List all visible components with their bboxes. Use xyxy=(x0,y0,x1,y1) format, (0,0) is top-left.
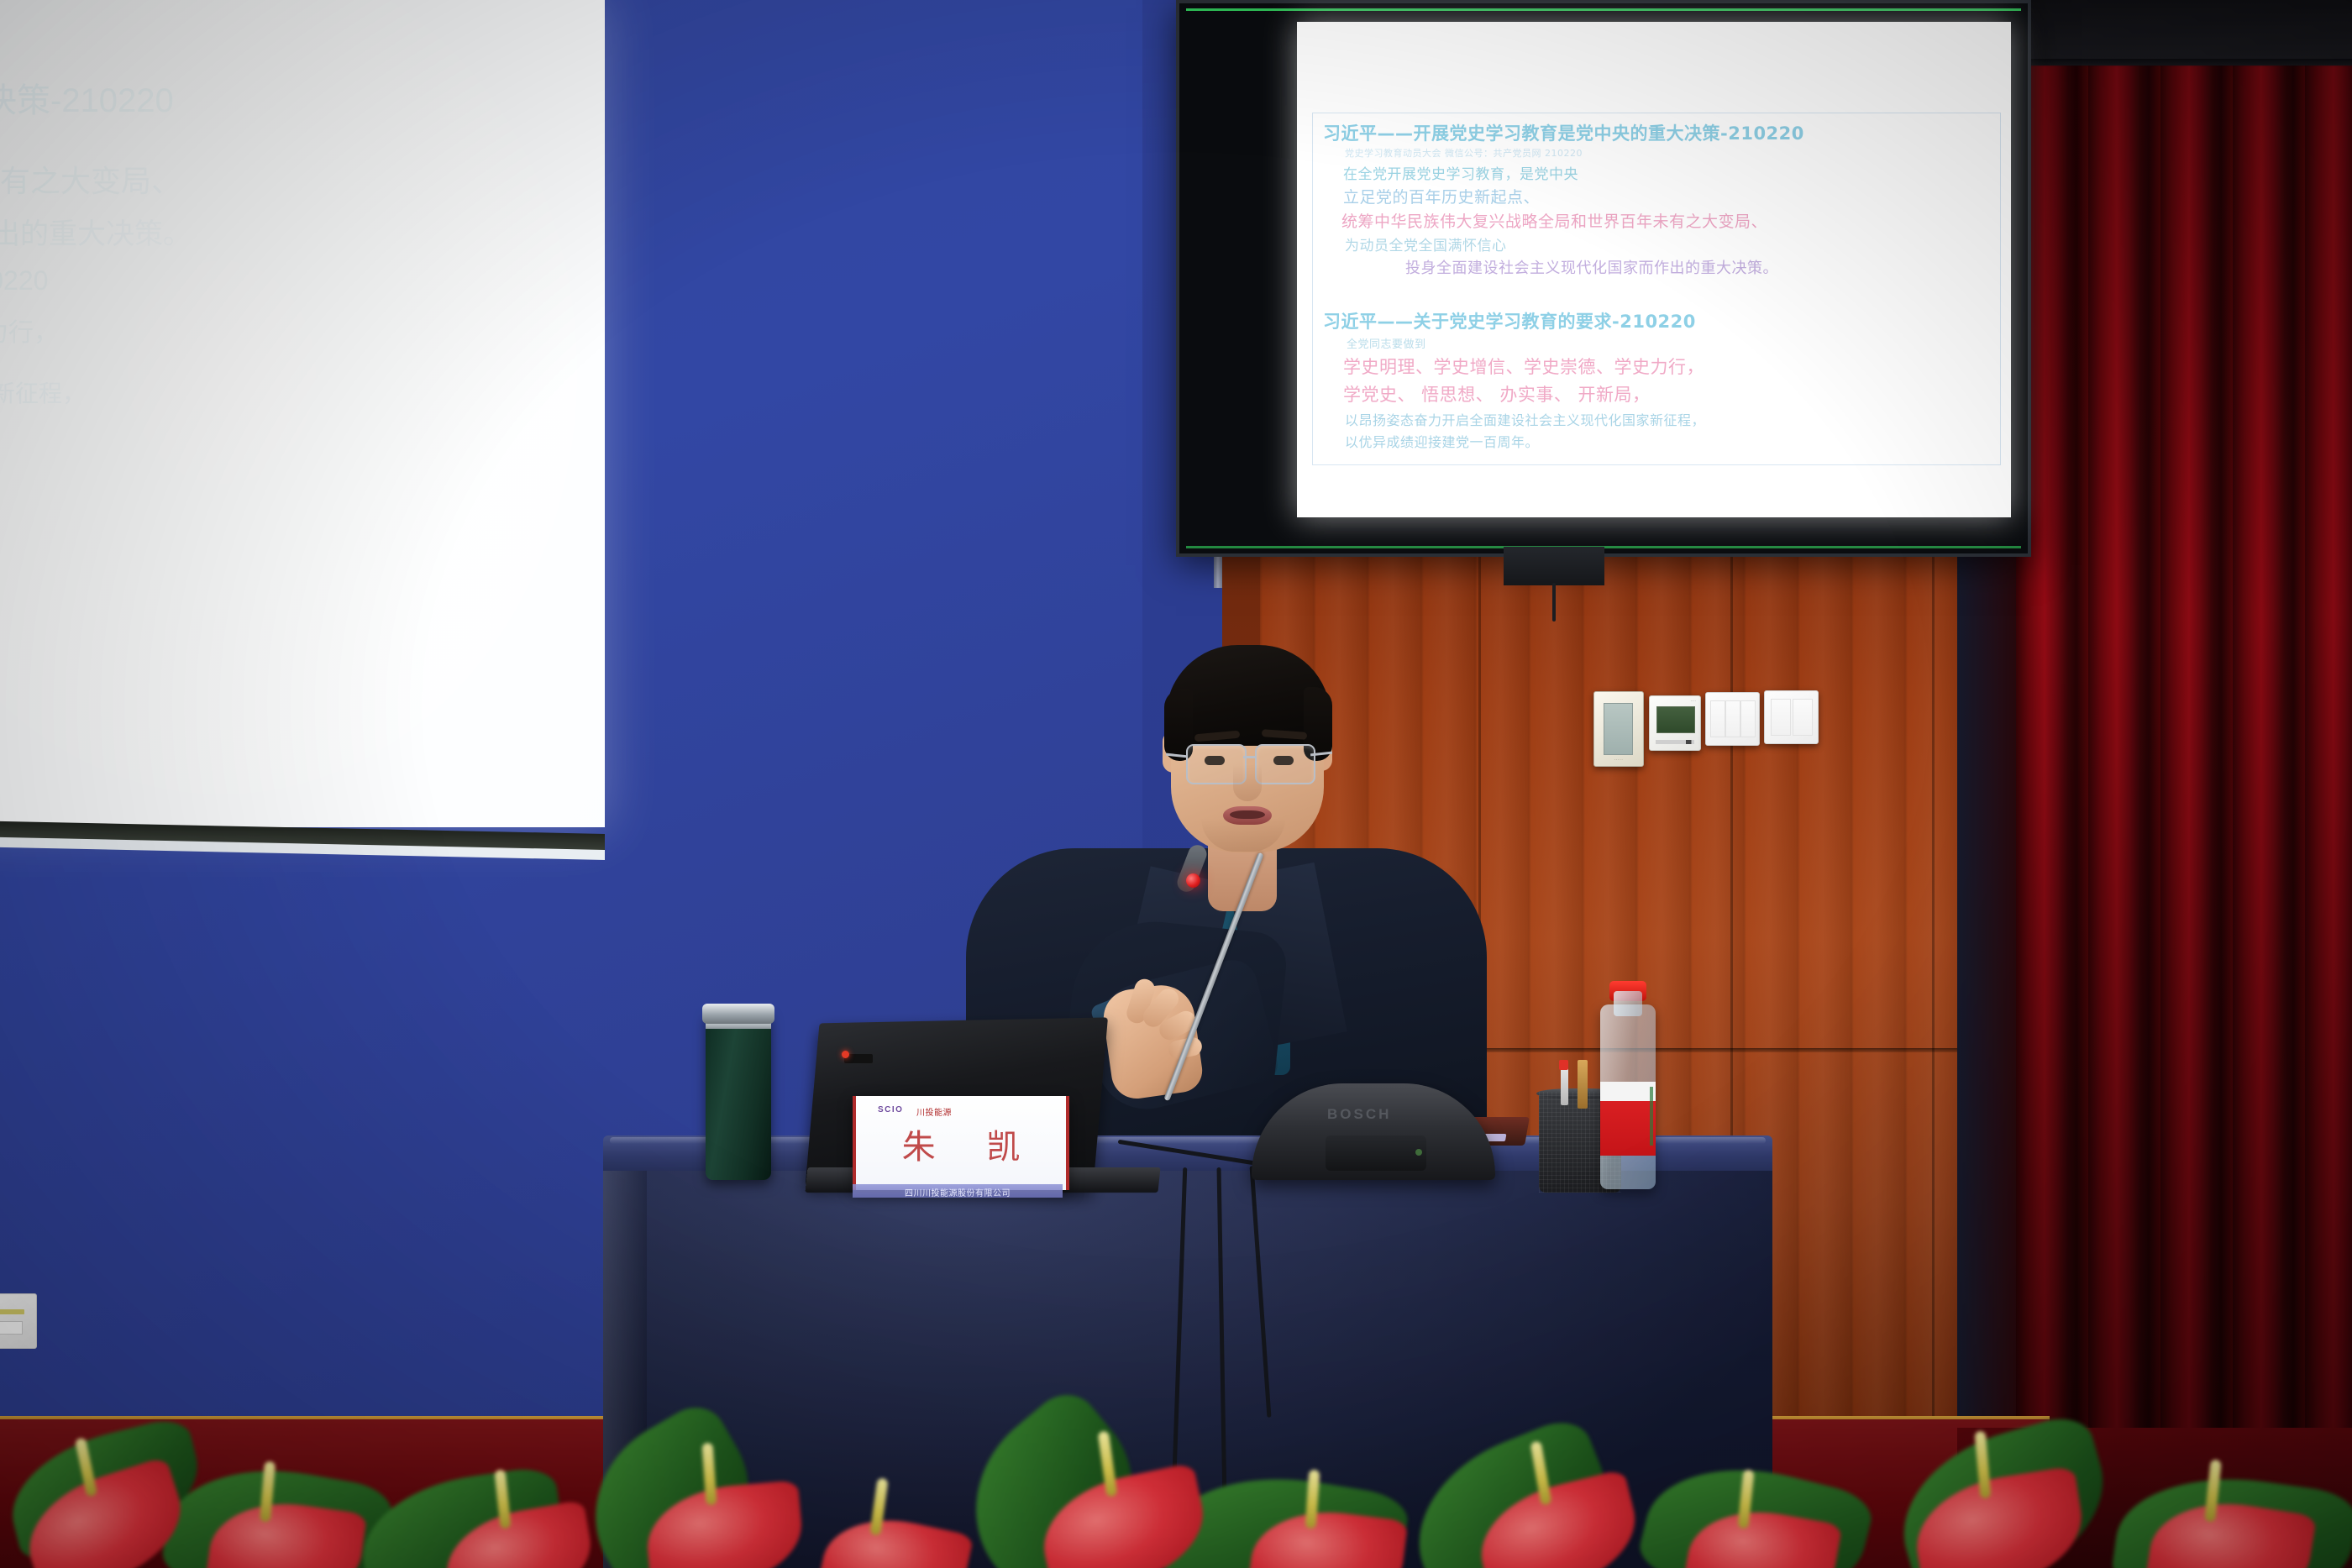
thermostat-panel[interactable]: ····· xyxy=(1593,691,1644,767)
proj-fragment-0: 央的重大决策-210220 xyxy=(0,84,487,118)
wall-mounted-display[interactable]: 习近平——开展党史学习教育是党中央的重大决策-210220 党史学习教育动员大会… xyxy=(1176,0,2031,557)
proj-fragment-6: 现代化国家新征程， xyxy=(0,382,512,406)
table-skirt-fold xyxy=(603,1155,647,1568)
display-wall-mount xyxy=(1504,547,1604,585)
socket-slot-lower-icon xyxy=(0,1321,23,1335)
slide-section2-title: 习近平——关于党史学习教育的要求-210220 xyxy=(1323,308,1992,333)
speaker-nose xyxy=(1233,764,1262,801)
nameplate-organization: 四川川投能源股份有限公司 xyxy=(853,1186,1063,1198)
slide-section1-line-0: 在全党开展党史学习教育，是党中央 xyxy=(1343,162,1992,183)
proj-fragment-3: -210220 xyxy=(0,267,588,294)
water-bottle-label-stripe xyxy=(1650,1087,1653,1146)
nameplate-logo-text: 川投能源 xyxy=(916,1105,952,1118)
thermos-lid[interactable] xyxy=(702,1004,774,1024)
desk-nameplate: SCIO 川投能源 朱 凯 xyxy=(853,1096,1069,1190)
slide-section2-line-1: 学党史、 悟思想、 办实事、 开新局， xyxy=(1343,381,1992,406)
slide-section1-line-3: 为动员全党全国满怀信心 xyxy=(1345,233,1992,254)
slide-section1-title: 习近平——开展党史学习教育是党中央的重大决策-210220 xyxy=(1323,120,1992,145)
thermostat-lcd-icon xyxy=(1604,703,1633,755)
slide-section1-line-1: 立足党的百年历史新起点、 xyxy=(1343,185,1992,207)
microphone-brand-label: BOSCH xyxy=(1327,1106,1391,1123)
curtain-valance-edge xyxy=(2016,59,2352,67)
switch-rocker-3[interactable] xyxy=(1740,700,1756,737)
ac-slider-icon[interactable] xyxy=(1656,740,1694,744)
ac-lcd-controller[interactable]: ···· xyxy=(1649,695,1701,751)
photo-scene: 央的重大决策-210220 世界百年未有之大变局、 化国家而作出的重大决策。 -… xyxy=(0,0,2352,1568)
wall-power-socket[interactable] xyxy=(0,1293,37,1349)
ac-lcd-screen-icon xyxy=(1656,706,1695,733)
slide-section2-subtitle: 全党同志要做到 xyxy=(1347,335,1992,351)
table-skirt-shading xyxy=(603,1148,1772,1568)
microphone-power-led-icon xyxy=(1415,1149,1422,1156)
wood-seam xyxy=(1932,538,1935,1428)
thermostat-brand-label: ····· xyxy=(1594,758,1643,763)
stage-carpet-right xyxy=(1957,1428,2352,1568)
switch-rocker-2[interactable] xyxy=(1725,700,1740,737)
curtain-valance xyxy=(2016,0,2352,66)
slide-section1-line-2: 统筹中华民族伟大复兴战略全局和世界百年未有之大变局、 xyxy=(1341,209,1992,232)
pen-red-cap-icon xyxy=(1559,1060,1568,1070)
thermos-flask[interactable] xyxy=(706,1012,771,1180)
switch-rocker-5[interactable] xyxy=(1793,699,1813,736)
proj-fragment-4: 学史力行， xyxy=(0,321,571,346)
display-cable xyxy=(1552,583,1556,621)
glasses-lens-right-icon xyxy=(1255,744,1315,784)
slide-section2-line-2: 以昂扬姿态奋力开启全面建设社会主义现代化国家新征程， xyxy=(1345,409,1992,429)
laptop-logo-indicator-icon xyxy=(842,1051,849,1058)
microphone-control-panel[interactable] xyxy=(1326,1135,1426,1171)
light-switch-plate-2[interactable] xyxy=(1764,690,1819,744)
switch-rocker-1[interactable] xyxy=(1710,700,1725,737)
ac-brand-label: ···· xyxy=(1690,699,1696,704)
slide-section2-line-3: 以优异成绩迎接建党一百周年。 xyxy=(1345,431,1992,451)
presentation-slide: 习近平——开展党史学习教育是党中央的重大决策-210220 党史学习教育动员大会… xyxy=(1297,22,2011,517)
proj-fragment-2: 化国家而作出的重大决策。 xyxy=(0,220,487,249)
nameplate-logo-mark: SCIO xyxy=(878,1105,903,1114)
slide-text-box: 习近平——开展党史学习教育是党中央的重大决策-210220 党史学习教育动员大会… xyxy=(1312,113,2001,465)
proj-fragment-1: 世界百年未有之大变局、 xyxy=(0,166,487,197)
switch-rocker-4[interactable] xyxy=(1771,699,1791,736)
slide-spacer xyxy=(1321,280,1992,305)
light-switch-plate-1[interactable] xyxy=(1705,692,1760,746)
socket-slot-upper-icon xyxy=(0,1309,24,1314)
pen-white[interactable] xyxy=(1561,1065,1568,1105)
nameplate-person-name: 朱 凯 xyxy=(856,1120,1066,1168)
water-bottle-label xyxy=(1600,1082,1656,1156)
curtain-shading xyxy=(2016,59,2352,1453)
projection-screen: 央的重大决策-210220 世界百年未有之大变局、 化国家而作出的重大决策。 -… xyxy=(0,0,605,827)
proj-fragment-5: 开新局， xyxy=(0,353,546,378)
pencil-wood[interactable] xyxy=(1578,1060,1588,1109)
slide-section1-line-4: 投身全面建设社会主义现代化国家而作出的重大决策。 xyxy=(1405,256,1992,278)
slide-section2-line-0: 学史明理、学史增信、学史崇德、学史力行， xyxy=(1343,354,1992,379)
glasses-bridge-icon xyxy=(1243,756,1257,758)
display-top-edge-glow xyxy=(1186,8,2021,11)
slide-section1-subtitle: 党史学习教育动员大会 微信公号：共产党员网 210220 xyxy=(1345,146,1992,160)
microphone-active-led-icon xyxy=(1186,873,1200,888)
